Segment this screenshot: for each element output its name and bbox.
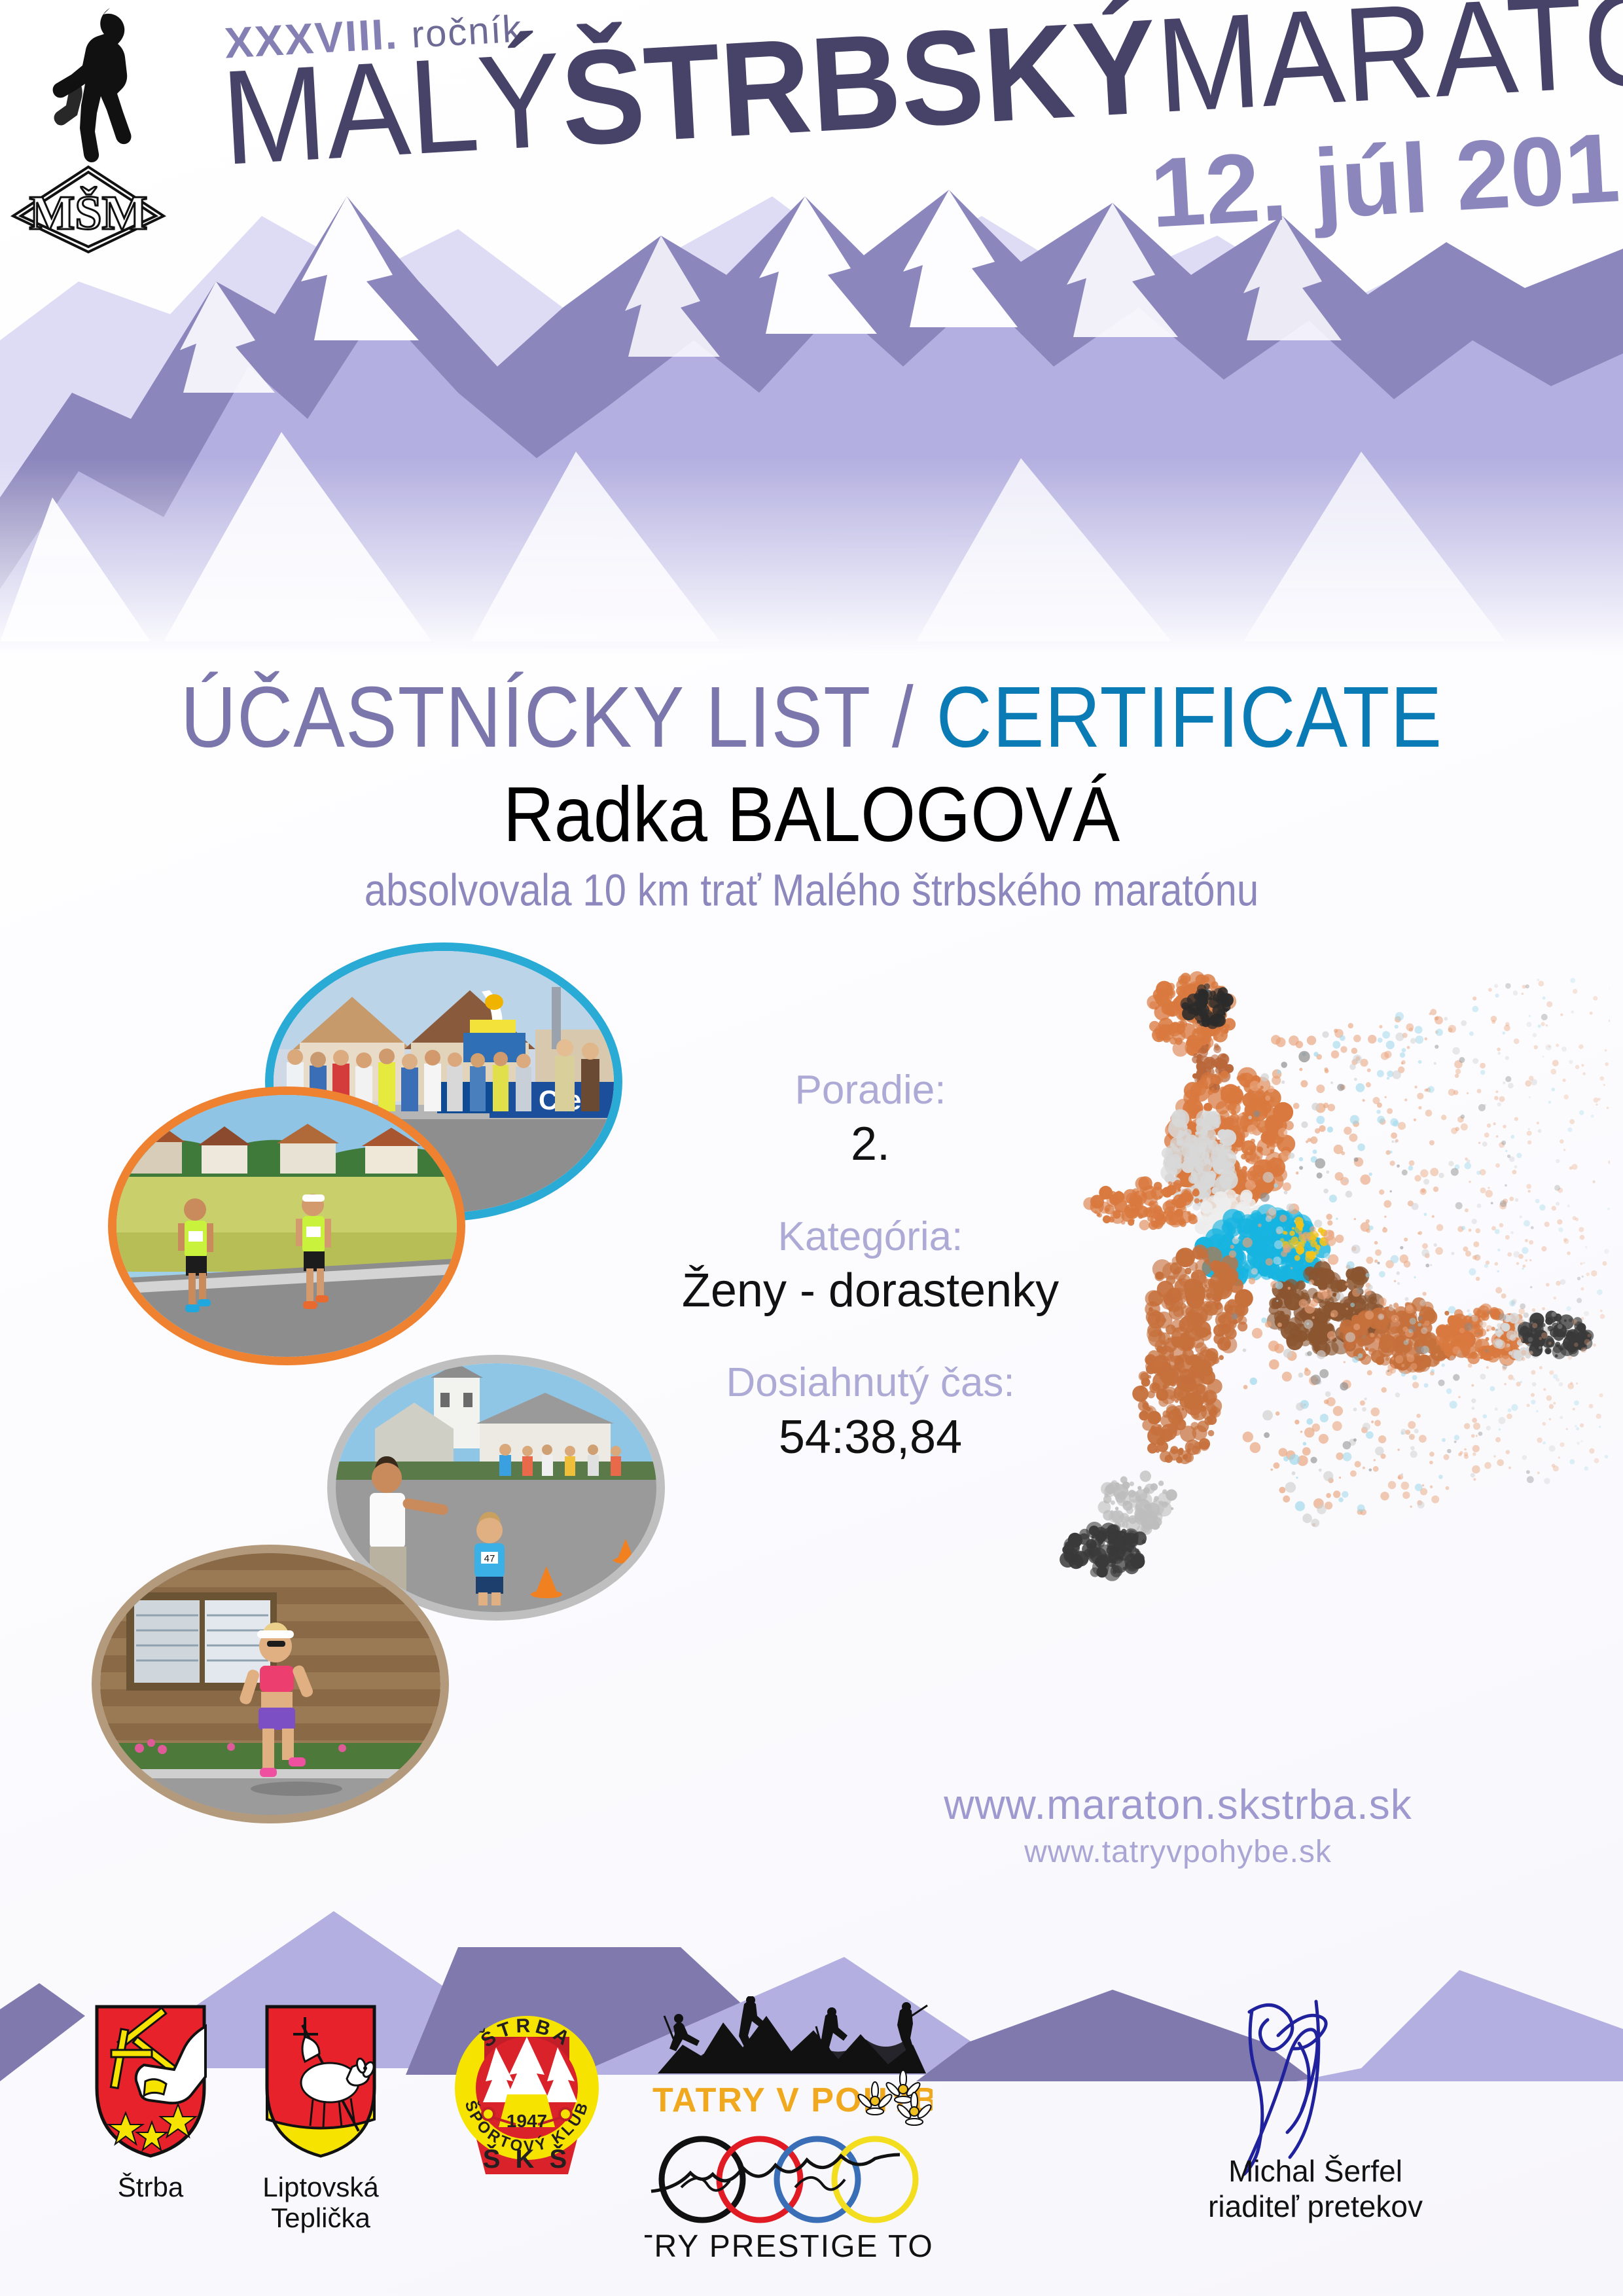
signature-name: Michal Šerfel (1113, 2153, 1518, 2189)
distance-description: absolvovala 10 km trať Malého štrbského … (0, 864, 1623, 916)
secondary-url[interactable]: www.tatryvpohybe.sk (772, 1834, 1584, 1870)
crest-liptovska-line1: Liptovská (262, 2172, 378, 2202)
logo-sks-sportovy-klub: ŠTRBA ŠPORTOVÝ KLUB 1947 Š K Š (445, 1996, 609, 2179)
msm-logo-text: MŠM (29, 187, 148, 240)
signature-block: Michal Šerfel riaditeľ pretekov (1113, 2153, 1518, 2225)
website-links: www.maraton.skstrba.sk www.tatryvpohybe.… (772, 1780, 1584, 1870)
tatry-prestige-tour-text: TATRY PRESTIGE TOUR (645, 2229, 933, 2264)
sks-year: 1947 (507, 2111, 547, 2131)
photo-two-runners (108, 1086, 465, 1365)
sks-abbrev: Š K Š (483, 2144, 571, 2174)
photo-kids-race-image: 47 (336, 1363, 656, 1612)
runner-particle-art (982, 942, 1610, 1702)
crest-liptovska-line2: Teplička (271, 2202, 370, 2233)
photo-collage: Cie (92, 936, 648, 1826)
certificate-title-sk: ÚČASTNÍCKY LIST / (181, 669, 936, 766)
primary-url[interactable]: www.maraton.skstrba.sk (772, 1780, 1584, 1829)
logo-tatry-v-pohybe: TATRY V POHYBE (645, 1996, 933, 2127)
signature-role: riaditeľ pretekov (1113, 2189, 1518, 2224)
certificate-title-en: CERTIFICATE (936, 669, 1442, 766)
crest-liptovska-teplicka (262, 2003, 380, 2160)
event-name-part1: MALÝ (218, 24, 565, 193)
photo-woman-runner (92, 1545, 449, 1823)
crest-strba (92, 2003, 209, 2160)
event-name-part2: ŠTRBSKÝ (558, 0, 1161, 174)
crest-liptovska-caption: LiptovskáTeplička (242, 2172, 399, 2233)
athlete-name: Radka BALOGOVÁ (0, 769, 1623, 859)
photo-woman-runner-image (100, 1553, 440, 1815)
certificate-title: ÚČASTNÍCKY LIST / CERTIFICATE (0, 674, 1623, 761)
logo-tatry-prestige-tour: TATRY PRESTIGE TOUR (645, 2127, 933, 2278)
header-banner: MŠM XXXVIII. ročník MALÝŠTRBSKÝMARATÓN 1… (0, 0, 1623, 655)
certificate-page: MŠM XXXVIII. ročník MALÝŠTRBSKÝMARATÓN 1… (0, 0, 1623, 2296)
photo-two-runners-image (116, 1095, 457, 1357)
svg-text:47: 47 (484, 1553, 495, 1564)
crest-strba-caption: Štrba (72, 2172, 229, 2202)
msm-logo: MŠM (0, 0, 177, 255)
